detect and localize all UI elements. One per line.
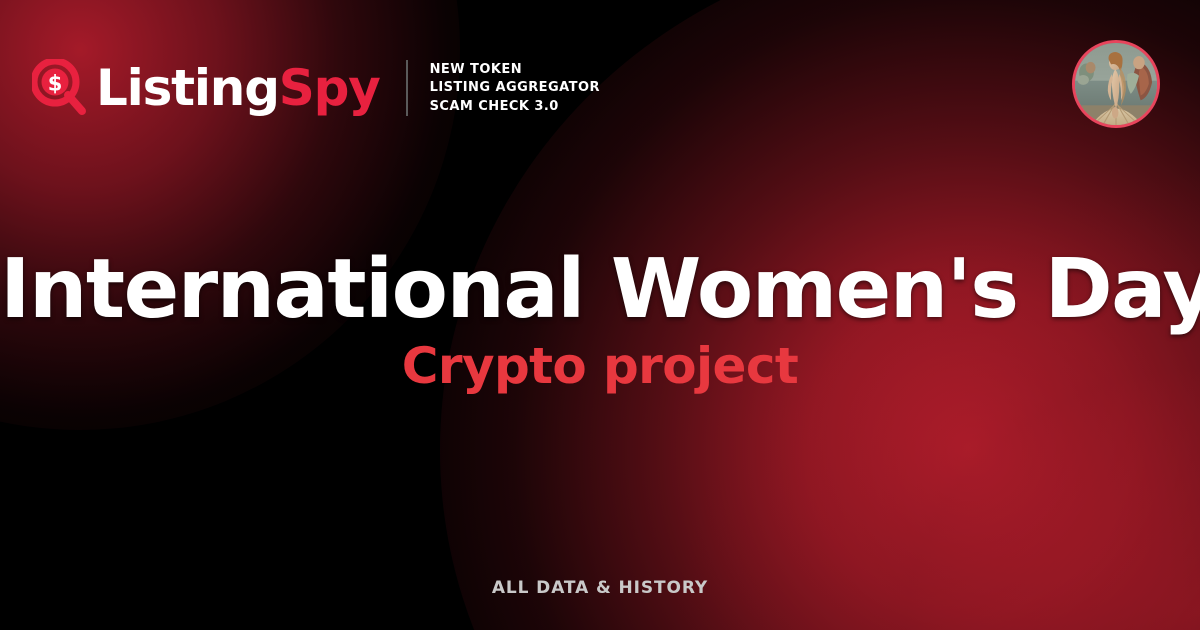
brand-name-primary: Listing xyxy=(96,63,279,113)
header: $ ListingSpy NEW TOKEN LISTING AGGREGATO… xyxy=(0,0,1200,170)
page-subtitle: Crypto project xyxy=(0,340,1200,393)
magnifier-dollar-icon: $ xyxy=(32,59,88,117)
tagline-line-3: SCAM CHECK 3.0 xyxy=(430,99,600,114)
brand-tagline: NEW TOKEN LISTING AGGREGATOR SCAM CHECK … xyxy=(430,62,600,114)
avatar[interactable] xyxy=(1072,40,1160,128)
svg-text:$: $ xyxy=(48,72,63,96)
brand-wordmark: ListingSpy xyxy=(96,63,380,113)
social-share-card: $ ListingSpy NEW TOKEN LISTING AGGREGATO… xyxy=(0,0,1200,630)
tagline-line-1: NEW TOKEN xyxy=(430,62,600,77)
brand-name-accent: Spy xyxy=(279,63,380,113)
hero-section: International Women's Day Crypto project xyxy=(0,248,1200,393)
brand-divider xyxy=(406,60,408,116)
birth-of-venus-image xyxy=(1075,43,1157,125)
brand-logo[interactable]: $ ListingSpy NEW TOKEN LISTING AGGREGATO… xyxy=(32,52,600,124)
page-title: International Women's Day xyxy=(0,248,1200,332)
footer: ALL DATA & HISTORY xyxy=(0,578,1200,598)
tagline-line-2: LISTING AGGREGATOR xyxy=(430,80,600,95)
footer-tagline: ALL DATA & HISTORY xyxy=(0,578,1200,598)
